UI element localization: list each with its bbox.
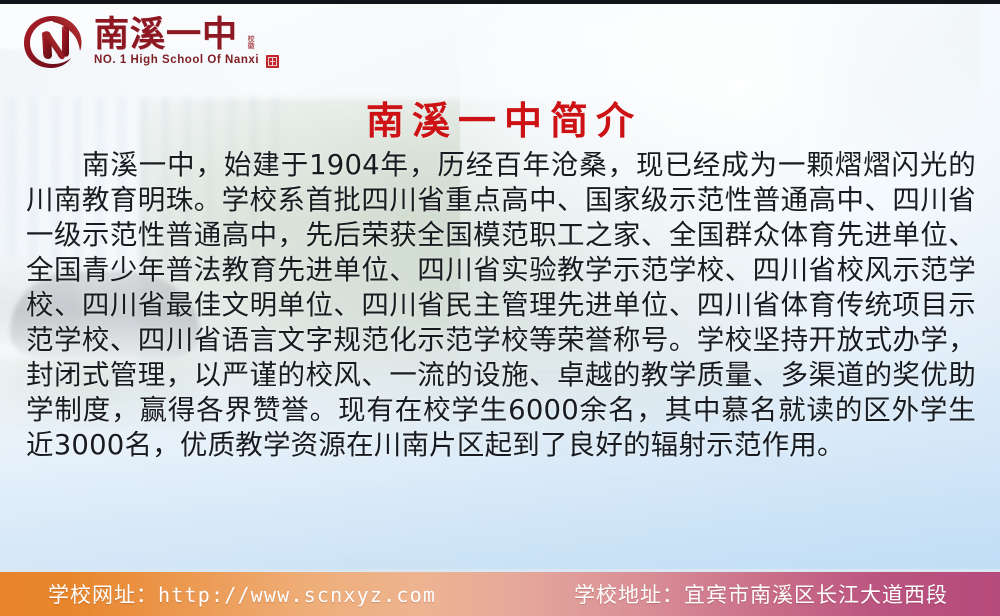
footer-address: 学校地址：宜宾市南溪区长江大道西段 xyxy=(574,579,948,609)
school-name-en-wrap: NO. 1 High School Of Nanxi xyxy=(94,55,279,68)
footer-contact-bar: 学校网址：http://www.scnxyz.com 学校地址：宜宾市南溪区长江… xyxy=(0,569,1000,616)
footer-website: 学校网址：http://www.scnxyz.com xyxy=(48,579,436,609)
page-title: 南溪一中简介 xyxy=(0,90,1000,145)
slide-page: 南溪一中 校徽 NO. 1 High School Of Nanxi 南溪一中简… xyxy=(0,0,1000,616)
nanxi-swirl-n-logo-icon xyxy=(22,13,84,71)
logo-wordmark: 南溪一中 校徽 NO. 1 High School Of Nanxi xyxy=(94,17,279,68)
calligraphy-seal-text: 校徽 xyxy=(247,35,254,49)
introduction-paragraph: 南溪一中，始建于1904年，历经百年沧桑，现已经成为一颗熠熠闪光的川南教育明珠。… xyxy=(26,148,976,463)
footer-website-value[interactable]: http://www.scnxyz.com xyxy=(158,583,436,607)
footer-address-value: 宜宾市南溪区长江大道西段 xyxy=(684,583,948,607)
red-seal-stamp-icon xyxy=(266,55,279,68)
calligraphy-seal-icon: 校徽 xyxy=(247,35,254,49)
school-name-cn: 南溪一中 xyxy=(94,17,238,52)
footer-address-label: 学校地址： xyxy=(574,583,684,607)
top-frame-line xyxy=(0,0,1000,4)
school-name-cn-wrap: 南溪一中 校徽 xyxy=(94,17,254,52)
school-name-en: NO. 1 High School Of Nanxi xyxy=(94,55,259,67)
school-logo-header: 南溪一中 校徽 NO. 1 High School Of Nanxi xyxy=(22,13,279,71)
footer-website-label: 学校网址： xyxy=(48,583,158,607)
